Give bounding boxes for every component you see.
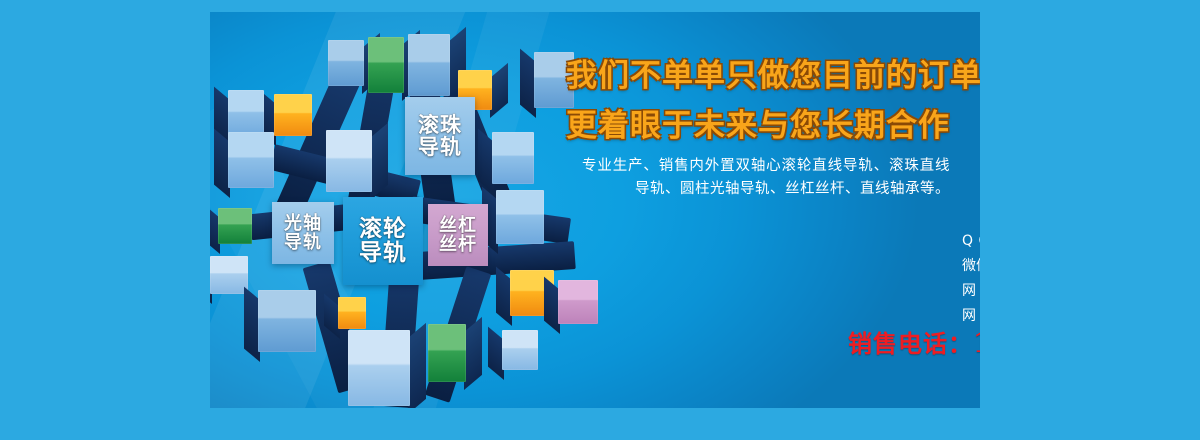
decorative-cube	[258, 290, 316, 352]
cube-front-face	[496, 190, 544, 244]
product-box-gunlun-daogui[interactable]: 滚轮 导轨	[343, 197, 423, 285]
decorative-cube	[408, 34, 450, 96]
cube-front-face	[408, 34, 450, 96]
product-box-line2: 导轨	[418, 136, 462, 158]
headline-line-1: 我们不单单只做您目前的订单	[566, 50, 980, 95]
cube-side-face	[490, 63, 508, 118]
cube-front-face	[326, 130, 372, 192]
product-box-line2: 导轨	[359, 241, 407, 265]
sales-phone-label: 销售电话：	[848, 330, 973, 358]
product-box-sigang-sigan[interactable]: 丝杠 丝杆	[428, 204, 488, 266]
decorative-cube	[492, 132, 534, 184]
contact-row-website-1: 网 址 ： Www.Zxdgzc.Com	[962, 280, 980, 300]
decorative-cube	[338, 297, 366, 329]
company-description: 专业生产、销售内外置双轴心滚轮直线导轨、滚珠直线导轨、圆柱光轴导轨、丝杠丝杆、直…	[582, 155, 950, 202]
banner-stage: 滚珠 导轨 光轴 导轨 滚轮 导轨 丝杠 丝杆	[0, 0, 1200, 440]
product-box-line1: 丝杠	[439, 216, 477, 235]
decorative-cube	[428, 324, 466, 382]
product-box-gunzhu-daogui[interactable]: 滚珠 导轨	[405, 97, 475, 175]
cube-front-face	[348, 330, 410, 406]
contact-label: 网 址	[962, 305, 980, 325]
decorative-cube	[328, 40, 364, 86]
product-box-line1: 光轴	[284, 214, 322, 233]
cube-front-face	[492, 132, 534, 184]
decorative-cube	[228, 90, 264, 138]
cube-front-face	[228, 132, 274, 188]
decorative-cube	[348, 330, 410, 406]
product-box-line2: 丝杆	[439, 235, 477, 254]
sales-phone-number[interactable]: 18357860469	[973, 328, 980, 359]
decorative-cube	[496, 190, 544, 244]
contact-row-wechat: 微信号 ： zxdgzc （直线导轨轴承）	[962, 255, 980, 275]
decorative-cube	[210, 256, 248, 294]
contact-label: Q Q	[962, 233, 980, 249]
cube-front-face	[228, 90, 264, 138]
decorative-cube	[218, 208, 252, 244]
cube-side-face	[408, 323, 426, 408]
sales-phone-block[interactable]: 销售电话：18357860469	[848, 324, 980, 359]
decorative-cube	[326, 130, 372, 192]
decorative-cube	[502, 330, 538, 370]
cube-front-face	[258, 290, 316, 352]
product-box-guangzhou-daogui[interactable]: 光轴 导轨	[272, 202, 334, 264]
cube-front-face	[368, 37, 404, 93]
contact-label: 微信号	[962, 255, 980, 275]
decorative-cube	[368, 37, 404, 93]
promo-banner: 滚珠 导轨 光轴 导轨 滚轮 导轨 丝杠 丝杆	[210, 12, 980, 408]
cube-front-face	[218, 208, 252, 244]
cube-front-face	[210, 256, 248, 294]
cube-front-face	[428, 324, 466, 382]
headline-line-2: 更着眼于未来与您长期合作	[566, 100, 980, 145]
decorative-cube	[228, 132, 274, 188]
contact-row-qq: Q Q ： 80286553	[962, 230, 980, 250]
product-box-line1: 滚珠	[418, 114, 462, 136]
contact-row-website-2: 网 址 ： Www.Cnzxdg.Com	[962, 305, 980, 325]
cube-front-face	[502, 330, 538, 370]
product-box-line1: 滚轮	[359, 217, 407, 241]
contact-info-block: Q Q ： 80286553 微信号 ： zxdgzc （直线导轨轴承） 网 址…	[962, 230, 980, 330]
product-box-line2: 导轨	[284, 233, 322, 252]
cube-front-face	[274, 94, 312, 136]
cube-front-face	[328, 40, 364, 86]
banner-text-column: 我们不单单只做您目前的订单 更着眼于未来与您长期合作 专业生产、销售内外置双轴心…	[550, 12, 980, 408]
decorative-cube	[274, 94, 312, 136]
cube-front-face	[338, 297, 366, 329]
contact-label: 网 址	[962, 280, 980, 300]
